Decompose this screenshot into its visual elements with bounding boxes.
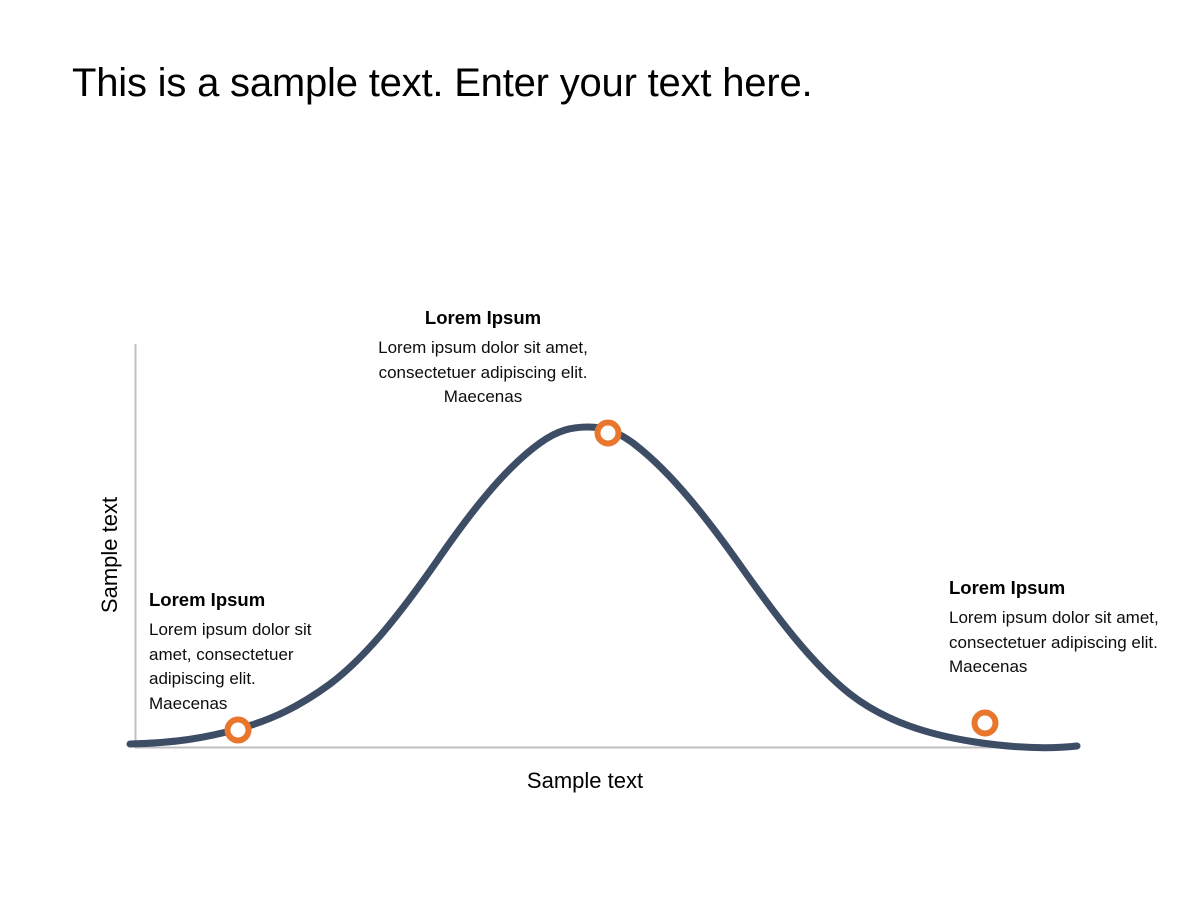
y-axis-title: Sample text	[96, 415, 124, 695]
callout-peak-line-1: Lorem ipsum dolor sit amet,	[333, 336, 633, 361]
callout-peak-line-2: consectetuer adipiscing elit.	[333, 361, 633, 386]
callout-left-line-2: amet, consectetuer	[149, 643, 359, 668]
callout-left-line-1: Lorem ipsum dolor sit	[149, 618, 359, 643]
callout-right-line-1: Lorem ipsum dolor sit amet,	[949, 606, 1194, 631]
callout-left: Lorem Ipsum Lorem ipsum dolor sit amet, …	[149, 588, 359, 716]
callout-right-line-3: Maecenas	[949, 655, 1194, 680]
callout-peak: Lorem Ipsum Lorem ipsum dolor sit amet, …	[333, 306, 633, 410]
chart-svg	[0, 0, 1200, 900]
callout-peak-line-3: Maecenas	[333, 385, 633, 410]
left-marker-icon[interactable]	[228, 720, 249, 741]
callout-left-line-3: adipiscing elit.	[149, 667, 359, 692]
callout-right-line-2: consectetuer adipiscing elit.	[949, 631, 1194, 656]
callout-right-heading: Lorem Ipsum	[949, 576, 1194, 600]
peak-marker-icon[interactable]	[598, 423, 619, 444]
bell-curve-chart: Sample text Sample text Lorem Ipsum Lore…	[0, 0, 1200, 900]
callout-peak-heading: Lorem Ipsum	[333, 306, 633, 330]
right-marker-icon[interactable]	[975, 713, 996, 734]
x-axis-title: Sample text	[335, 767, 835, 795]
callout-left-line-4: Maecenas	[149, 692, 359, 717]
slide-canvas: This is a sample text. Enter your text h…	[0, 0, 1200, 900]
callout-right: Lorem Ipsum Lorem ipsum dolor sit amet, …	[949, 576, 1194, 680]
callout-left-heading: Lorem Ipsum	[149, 588, 359, 612]
